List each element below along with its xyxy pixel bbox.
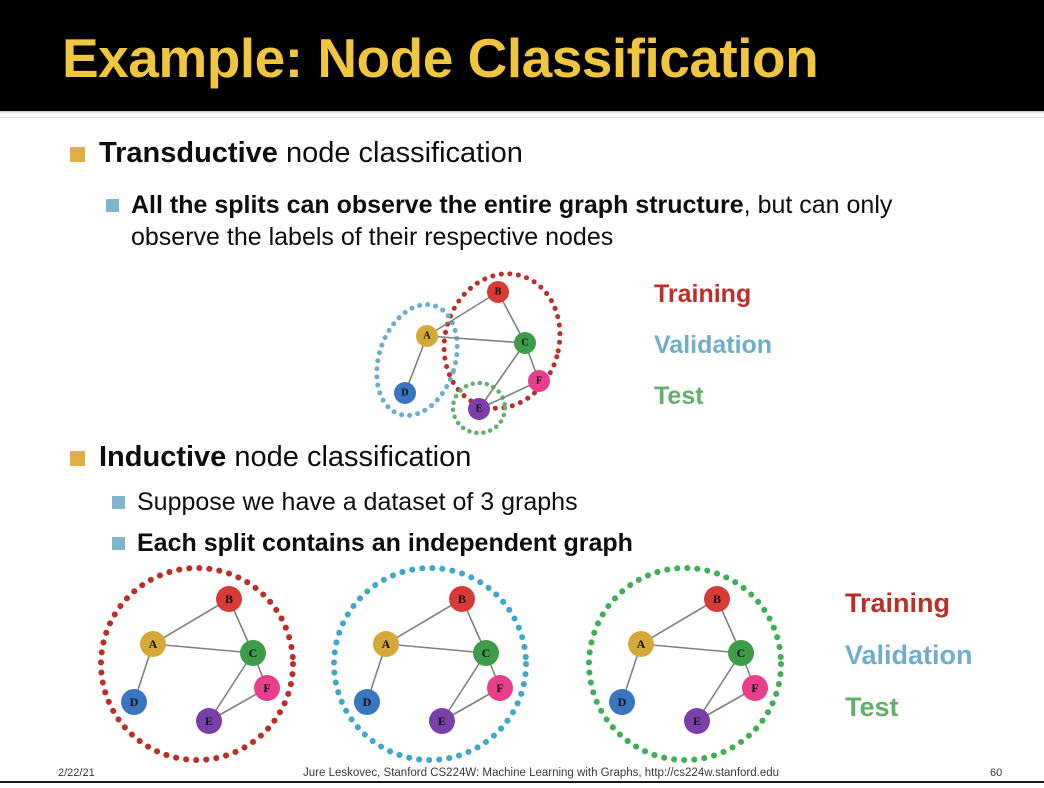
inductive-legend: Training Validation Test (845, 590, 973, 721)
node-D-label: D (130, 695, 139, 709)
edge-A-B (427, 292, 498, 336)
bullet-square-icon (112, 496, 125, 509)
inductive-graph-svg-test: A B C D E F (580, 562, 810, 767)
node-C-label: C (737, 646, 746, 660)
inductive-nodes-test: A B C D E F (609, 586, 768, 734)
bullet-inductive-sub2-label: Each split contains an independent graph (137, 528, 633, 560)
node-B-label: B (458, 592, 466, 606)
footer-page-number: 60 (990, 767, 1002, 779)
legend-test: Test (845, 694, 973, 721)
node-B-label: B (713, 592, 721, 606)
bullet-transductive-label: Transductive node classification (99, 136, 523, 170)
edge-A-C (153, 644, 253, 653)
title-divider (0, 111, 1044, 114)
legend-validation: Validation (845, 642, 973, 669)
edge-A-C (641, 644, 741, 653)
bullet-square-icon (70, 451, 85, 466)
node-E-label: E (205, 714, 213, 728)
node-F-label: F (536, 376, 542, 387)
node-D-label: D (618, 695, 627, 709)
inductive-graph-figure-validation: A B C D E F (325, 562, 555, 767)
node-D-label: D (401, 388, 408, 399)
bullet-inductive: Inductive node classification (70, 440, 830, 474)
node-F-label: F (263, 681, 270, 695)
group-circle-test (589, 568, 781, 760)
node-E-label: E (438, 714, 446, 728)
node-B-label: B (495, 287, 502, 298)
bullet-transductive-sub: All the splits can observe the entire gr… (106, 190, 966, 253)
edge-A-B (153, 599, 229, 644)
node-F-label: F (496, 681, 503, 695)
title-divider-secondary (0, 117, 1044, 118)
legend-training: Training (845, 590, 973, 617)
inductive-graph-figure-training: A B C D E F (92, 562, 322, 767)
edge-A-C (427, 336, 525, 343)
node-A-label: A (637, 637, 646, 651)
transductive-graph-figure: A B C D E F (355, 262, 605, 437)
node-A-label: A (149, 637, 158, 651)
bullet-inductive-label: Inductive node classification (99, 440, 471, 474)
inductive-graph-svg-training: A B C D E F (92, 562, 322, 767)
node-C-label: C (249, 646, 258, 660)
edge-A-B (386, 599, 462, 644)
group-circle-validation (334, 568, 526, 760)
legend-validation: Validation (654, 333, 772, 358)
transductive-graph-svg: A B C D E F (355, 262, 605, 437)
node-B-label: B (225, 592, 233, 606)
transductive-legend: Training Validation Test (654, 282, 772, 409)
footer-attribution: Jure Leskovec, Stanford CS224W: Machine … (303, 767, 779, 779)
node-A-label: A (423, 331, 431, 342)
inductive-nodes-training: A B C D E F (121, 586, 280, 734)
bullet-transductive: Transductive node classification (70, 136, 830, 170)
group-circle-training (101, 568, 293, 760)
legend-training: Training (654, 282, 772, 307)
slide-canvas: Example: Node Classification Transductiv… (0, 0, 1044, 788)
inductive-graph-svg-validation: A B C D E F (325, 562, 555, 767)
page-title: Example: Node Classification (62, 26, 818, 90)
edge-A-B (641, 599, 717, 644)
bullet-square-icon (70, 147, 85, 162)
bullet-transductive-sub-label: All the splits can observe the entire gr… (131, 190, 966, 253)
footer-date: 2/22/21 (58, 767, 95, 779)
bullet-square-icon (112, 537, 125, 550)
bullet-square-icon (106, 199, 119, 212)
legend-test: Test (654, 384, 772, 409)
bullet-inductive-lead: Inductive (99, 441, 226, 473)
node-E-label: E (693, 714, 701, 728)
inductive-graph-figure-test: A B C D E F (580, 562, 810, 767)
node-D-label: D (363, 695, 372, 709)
bullet-transductive-sub-bold: All the splits can observe the entire gr… (131, 191, 744, 219)
footer-divider (0, 781, 1044, 783)
inductive-nodes-validation: A B C D E F (354, 586, 513, 734)
bullet-transductive-rest: node classification (278, 137, 523, 169)
node-F-label: F (751, 681, 758, 695)
node-C-label: C (482, 646, 491, 660)
bullet-inductive-rest: node classification (226, 441, 471, 473)
bullet-inductive-sub1-label: Suppose we have a dataset of 3 graphs (137, 487, 578, 519)
node-A-label: A (382, 637, 391, 651)
node-E-label: E (476, 404, 483, 415)
edge-A-C (386, 644, 486, 653)
node-C-label: C (521, 338, 528, 349)
bullet-transductive-lead: Transductive (99, 137, 278, 169)
bullet-inductive-sub2: Each split contains an independent graph (112, 528, 872, 560)
bullet-inductive-sub1: Suppose we have a dataset of 3 graphs (112, 487, 872, 519)
